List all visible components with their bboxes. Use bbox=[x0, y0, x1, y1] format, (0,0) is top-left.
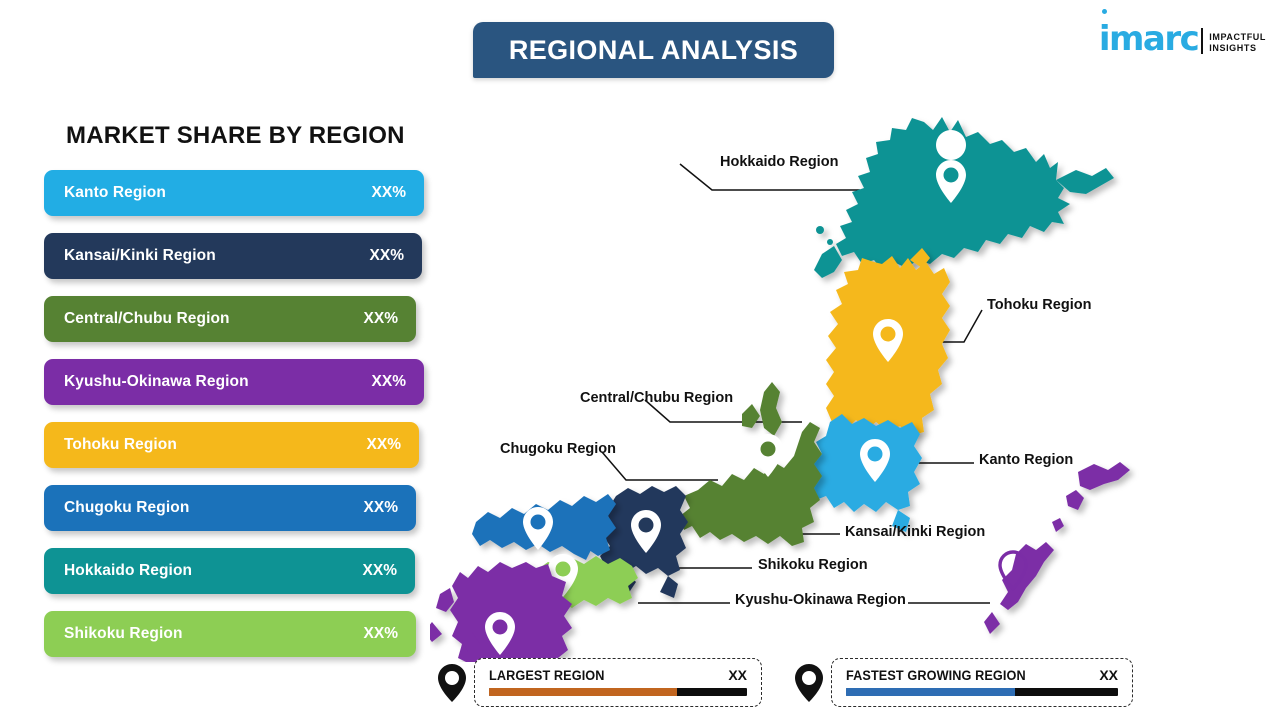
market-share-bar-label: Central/Chubu Region bbox=[64, 310, 230, 328]
logo-tagline-line2: INSIGHTS bbox=[1209, 43, 1266, 54]
largest-region-progress-track bbox=[489, 688, 747, 696]
market-share-bar[interactable]: Shikoku RegionXX% bbox=[44, 611, 416, 657]
logo-divider bbox=[1201, 28, 1203, 54]
map-region-label: Hokkaido Region bbox=[720, 154, 838, 170]
market-share-bar[interactable]: Kyushu-Okinawa RegionXX% bbox=[44, 359, 424, 405]
largest-region-progress-fill bbox=[489, 688, 677, 696]
market-share-bar-value: XX% bbox=[364, 310, 398, 328]
slide-root: REGIONAL ANALYSIS imarc IMPACTFUL INSIGH… bbox=[0, 0, 1280, 720]
logo-wordmark: imarc bbox=[1099, 22, 1198, 56]
market-share-bar-value: XX% bbox=[370, 247, 404, 265]
fastest-growing-region-stat[interactable]: FASTEST GROWING REGION XX bbox=[795, 658, 1133, 707]
logo-tagline: IMPACTFUL INSIGHTS bbox=[1209, 32, 1266, 54]
fastest-growing-region-progress-track bbox=[846, 688, 1118, 696]
map-region-label: Shikoku Region bbox=[758, 557, 868, 573]
footer-stats: LARGEST REGION XX FASTEST GROWING REGION… bbox=[0, 655, 1280, 717]
market-share-bar-value: XX% bbox=[364, 625, 398, 643]
market-share-bar-label: Hokkaido Region bbox=[64, 562, 192, 580]
market-share-bar-label: Shikoku Region bbox=[64, 625, 183, 643]
market-share-bar[interactable]: Kansai/Kinki RegionXX% bbox=[44, 233, 422, 279]
imarc-logo: imarc IMPACTFUL INSIGHTS bbox=[1099, 16, 1266, 56]
japan-map: Hokkaido RegionTohoku RegionCentral/Chub… bbox=[430, 92, 1150, 662]
region-okinawa-islands[interactable] bbox=[984, 462, 1130, 634]
market-share-bar-value: XX% bbox=[363, 562, 397, 580]
map-region-label: Tohoku Region bbox=[987, 297, 1091, 313]
market-share-bar[interactable]: Tohoku RegionXX% bbox=[44, 422, 419, 468]
fastest-growing-region-card: FASTEST GROWING REGION XX bbox=[831, 658, 1133, 707]
location-pin-icon bbox=[795, 664, 823, 702]
region-kanto[interactable] bbox=[812, 414, 922, 532]
map-region-label: Central/Chubu Region bbox=[580, 390, 733, 406]
logo-tagline-line1: IMPACTFUL bbox=[1209, 32, 1266, 43]
market-share-bar-value: XX% bbox=[372, 184, 406, 202]
map-region-label: Kansai/Kinki Region bbox=[845, 524, 985, 540]
page-title-banner: REGIONAL ANALYSIS bbox=[473, 22, 834, 78]
market-share-bar-value: XX% bbox=[372, 373, 406, 391]
market-share-bar-value: XX% bbox=[367, 436, 401, 454]
market-share-bar-value: XX% bbox=[364, 499, 398, 517]
largest-region-label: LARGEST REGION bbox=[489, 668, 605, 683]
market-share-bar-label: Kyushu-Okinawa Region bbox=[64, 373, 249, 391]
market-share-bar[interactable]: Hokkaido RegionXX% bbox=[44, 548, 415, 594]
market-share-bar[interactable]: Chugoku RegionXX% bbox=[44, 485, 416, 531]
fastest-growing-region-value: XX bbox=[1099, 667, 1118, 683]
market-share-list: Kanto RegionXX%Kansai/Kinki RegionXX%Cen… bbox=[44, 170, 444, 674]
fastest-growing-region-label: FASTEST GROWING REGION bbox=[846, 668, 1026, 683]
page-title: REGIONAL ANALYSIS bbox=[509, 35, 798, 66]
market-share-bar-label: Tohoku Region bbox=[64, 436, 177, 454]
location-pin-icon bbox=[438, 664, 466, 702]
fastest-growing-region-progress-fill bbox=[846, 688, 1015, 696]
market-share-bar[interactable]: Central/Chubu RegionXX% bbox=[44, 296, 416, 342]
market-share-bar-label: Chugoku Region bbox=[64, 499, 189, 517]
map-region-label: Kanto Region bbox=[979, 452, 1073, 468]
market-share-bar[interactable]: Kanto RegionXX% bbox=[44, 170, 424, 216]
market-share-bar-label: Kanto Region bbox=[64, 184, 166, 202]
map-region-label: Chugoku Region bbox=[500, 441, 616, 457]
region-chubu[interactable] bbox=[680, 382, 822, 546]
largest-region-stat[interactable]: LARGEST REGION XX bbox=[438, 658, 762, 707]
map-region-label: Kyushu-Okinawa Region bbox=[735, 592, 906, 608]
logo-dot-icon bbox=[1102, 9, 1107, 14]
market-share-bar-label: Kansai/Kinki Region bbox=[64, 247, 216, 265]
market-share-title: MARKET SHARE BY REGION bbox=[66, 122, 405, 150]
largest-region-value: XX bbox=[728, 667, 747, 683]
largest-region-card: LARGEST REGION XX bbox=[474, 658, 762, 707]
